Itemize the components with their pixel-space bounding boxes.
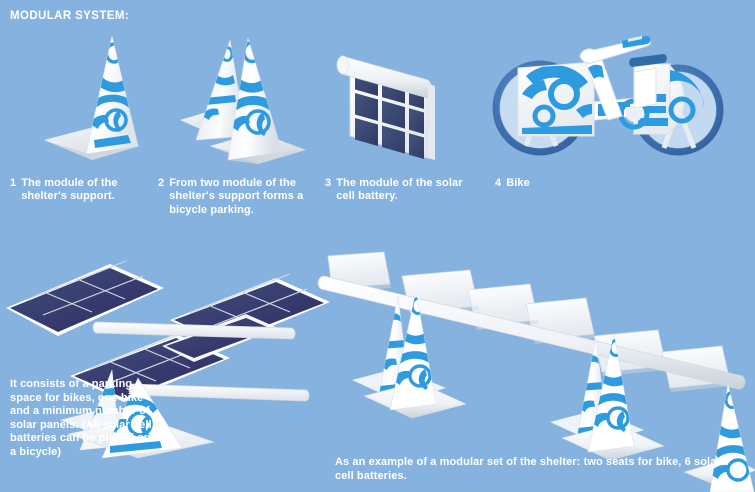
figure-support-module xyxy=(28,28,156,162)
figure-bike xyxy=(482,20,734,172)
caption-4: 4 Bike xyxy=(495,177,615,190)
caption-3: 3 The module of the solar cell battery. xyxy=(325,177,475,204)
note-left: It consists of a parking space for bikes… xyxy=(10,378,158,460)
caption-2-text: From two module of the shelter's support… xyxy=(169,177,313,217)
figure-solar-module xyxy=(332,26,454,166)
figure-bicycle-parking xyxy=(172,24,312,166)
caption-4-text: Bike xyxy=(506,177,615,190)
caption-1-text: The module of the shelter's support. xyxy=(21,177,155,204)
caption-2-number: 2 xyxy=(158,177,164,217)
page-title: MODULAR SYSTEM: xyxy=(10,10,129,22)
caption-1: 1 The module of the shelter's support. xyxy=(10,177,155,204)
infographic-canvas: MODULAR SYSTEM: xyxy=(0,0,755,492)
caption-3-number: 3 xyxy=(325,177,331,204)
caption-4-number: 4 xyxy=(495,177,501,190)
caption-1-number: 1 xyxy=(10,177,16,204)
caption-2: 2 From two module of the shelter's suppo… xyxy=(158,177,313,217)
caption-3-text: The module of the solar cell battery. xyxy=(336,177,475,204)
note-right: As an example of a modular set of the sh… xyxy=(335,456,735,483)
